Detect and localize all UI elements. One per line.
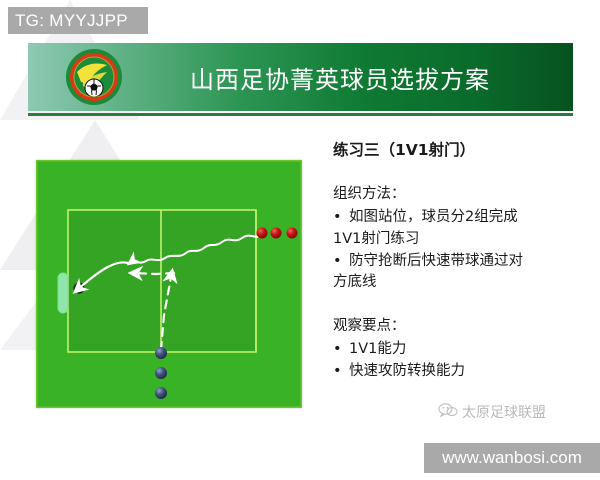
section-spacer	[333, 294, 583, 314]
section-heading: 观察要点：	[333, 314, 583, 335]
header-underline	[28, 113, 573, 116]
football-pitch-drill-diagram	[36, 160, 302, 408]
bullet-marker: •	[333, 207, 349, 229]
slide-canvas: TG: MYYJJPP 山西足协菁英球员选拔方案	[0, 0, 600, 480]
list-item-continuation: 方底线	[333, 272, 583, 294]
channel-tag-overlay: TG: MYYJJPP	[8, 7, 148, 34]
blue-markers	[155, 347, 167, 399]
wechat-watermark-text: 太原足球联盟	[462, 402, 546, 422]
bullet-marker: •	[333, 361, 349, 383]
list-item-continuation: 1V1射门练习	[333, 229, 583, 251]
shanxi-football-association-logo	[63, 48, 125, 106]
section-organisation: 组织方法： • 如图站位，球员分2组完成 1V1射门练习 • 防守抢断后快速带球…	[333, 182, 583, 294]
list-item-text: 防守抢断后快速带球通过对	[349, 251, 583, 273]
drill-description-panel: 练习三（1V1射门） 组织方法： • 如图站位，球员分2组完成 1V1射门练习 …	[333, 138, 583, 383]
section-observation: 观察要点： • 1V1能力 • 快速攻防转换能力	[333, 314, 583, 383]
list-item: • 防守抢断后快速带球通过对	[333, 251, 583, 273]
bullet-marker: •	[333, 339, 349, 361]
exercise-title: 练习三（1V1射门）	[333, 138, 583, 160]
list-item-text: 快速攻防转换能力	[349, 361, 583, 383]
site-watermark: www.wanbosi.com	[424, 443, 600, 473]
page-title: 山西足协菁英球员选拔方案	[190, 60, 490, 95]
list-item: • 1V1能力	[333, 339, 583, 361]
section-heading: 组织方法：	[333, 182, 583, 203]
bullet-marker: •	[333, 251, 349, 273]
list-item-text: 1V1能力	[349, 339, 583, 361]
list-item: • 快速攻防转换能力	[333, 361, 583, 383]
list-item: • 如图站位，球员分2组完成	[333, 207, 583, 229]
wechat-watermark: 太原足球联盟	[438, 402, 546, 422]
red-markers	[257, 228, 298, 239]
list-item-text: 如图站位，球员分2组完成	[349, 207, 583, 229]
wechat-icon	[438, 403, 458, 422]
